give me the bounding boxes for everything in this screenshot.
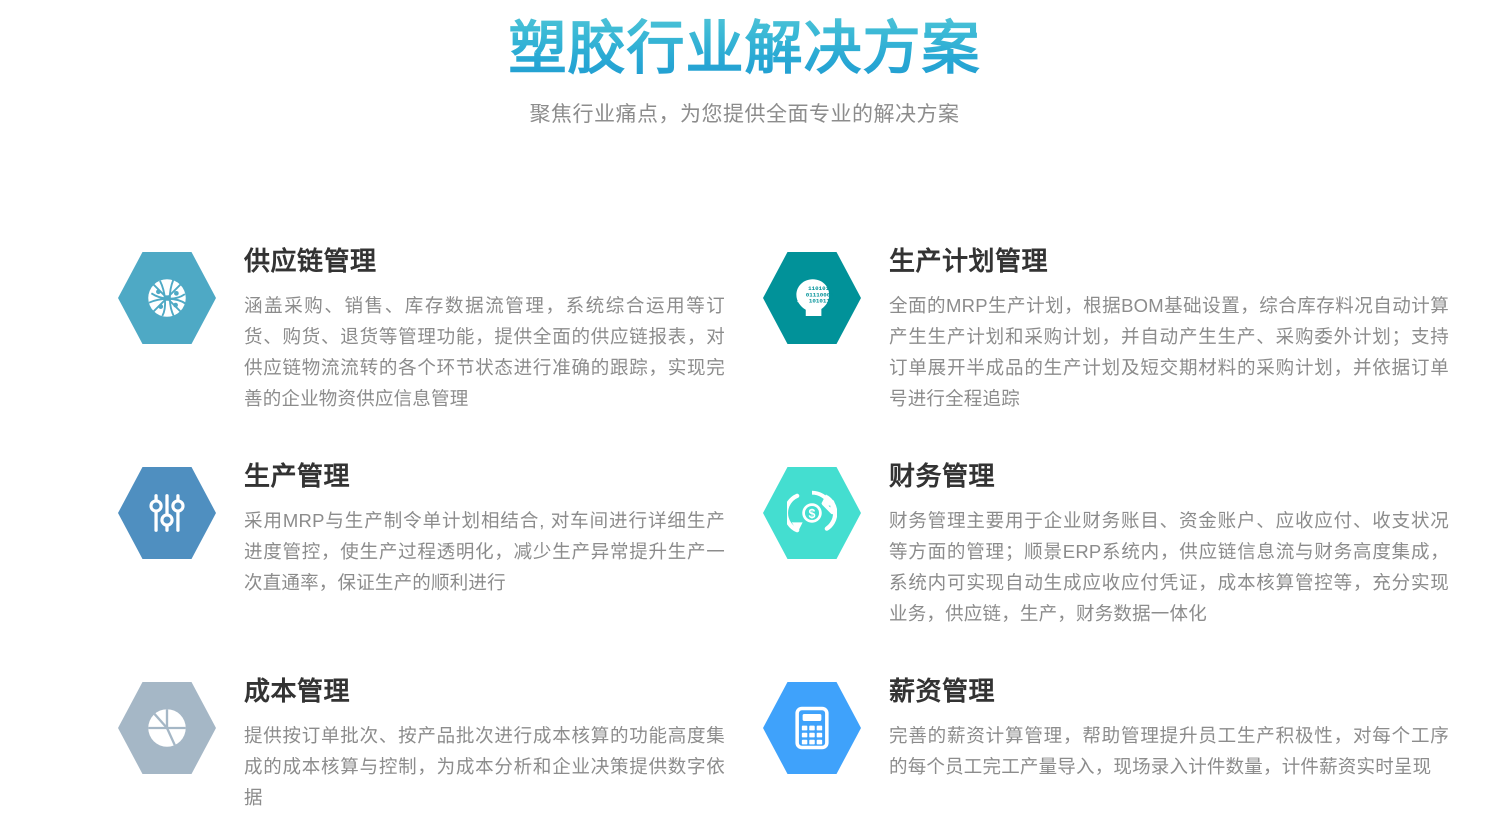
feature-title: 生产管理 (244, 459, 725, 493)
svg-text:$: $ (809, 507, 816, 521)
feature-text: 供应链管理 涵盖采购、销售、库存数据流管理，系统综合运用等订货、购货、退货等管理… (244, 240, 725, 414)
calculator-icon (787, 703, 837, 753)
feature-description: 采用MRP与生产制令单计划相结合, 对车间进行详细生产进度管控，使生产过程透明化… (244, 505, 725, 598)
feature-card-payroll[interactable]: 薪资管理 完善的薪资计算管理，帮助管理提升员工生产积极性，对每个工序的每个员工完… (745, 670, 1489, 830)
feature-icon-badge: 110101 01110001 101011 (763, 252, 861, 344)
feature-icon-badge (118, 467, 216, 559)
feature-description: 财务管理主要用于企业财务账目、资金账户、应收应付、收支状况等方面的管理；顺景ER… (889, 505, 1449, 629)
feature-icon-badge: $ (763, 467, 861, 559)
feature-description: 完善的薪资计算管理，帮助管理提升员工生产积极性，对每个工序的每个员工完工产量导入… (889, 720, 1449, 782)
feature-text: 生产管理 采用MRP与生产制令单计划相结合, 对车间进行详细生产进度管控，使生产… (244, 455, 725, 598)
feature-title: 财务管理 (889, 459, 1449, 493)
feature-title: 成本管理 (244, 674, 725, 708)
feature-description: 提供按订单批次、按产品批次进行成本核算的功能高度集成的成本核算与控制，为成本分析… (244, 720, 725, 813)
feature-description: 涵盖采购、销售、库存数据流管理，系统综合运用等订货、购货、退货等管理功能，提供全… (244, 290, 725, 414)
page-header: 塑胶行业解决方案 聚焦行业痛点，为您提供全面专业的解决方案 (0, 0, 1489, 130)
sliders-icon (142, 488, 192, 538)
feature-icon-badge (118, 682, 216, 774)
feature-icon-badge (118, 252, 216, 344)
feature-text: 财务管理 财务管理主要用于企业财务账目、资金账户、应收应付、收支状况等方面的管理… (889, 455, 1449, 629)
feature-card-cost[interactable]: 成本管理 提供按订单批次、按产品批次进行成本核算的功能高度集成的成本核算与控制，… (0, 670, 745, 830)
feature-title: 薪资管理 (889, 674, 1449, 708)
feature-card-finance[interactable]: $ 财务管理 财务管理主要用于企业财务账目、资金账户、应收应付、收支状况等方面的… (745, 455, 1489, 670)
feature-title: 供应链管理 (244, 244, 725, 278)
feature-text: 薪资管理 完善的薪资计算管理，帮助管理提升员工生产积极性，对每个工序的每个员工完… (889, 670, 1449, 782)
solution-page: 塑胶行业解决方案 聚焦行业痛点，为您提供全面专业的解决方案 (0, 0, 1489, 836)
feature-icon-badge (763, 682, 861, 774)
money-refresh-icon: $ (787, 488, 837, 538)
feature-card-production-plan[interactable]: 110101 01110001 101011 生产计划管理 全面的MRP生产计划… (745, 240, 1489, 455)
feature-text: 生产计划管理 全面的MRP生产计划，根据BOM基础设置，综合库存料况自动计算产生… (889, 240, 1449, 414)
svg-text:101011: 101011 (809, 298, 831, 305)
feature-card-production[interactable]: 生产管理 采用MRP与生产制令单计划相结合, 对车间进行详细生产进度管控，使生产… (0, 455, 745, 670)
page-title: 塑胶行业解决方案 (0, 12, 1489, 86)
feature-card-supply-chain[interactable]: 供应链管理 涵盖采购、销售、库存数据流管理，系统综合运用等订货、购货、退货等管理… (0, 240, 745, 455)
feature-description: 全面的MRP生产计划，根据BOM基础设置，综合库存料况自动计算产生生产计划和采购… (889, 290, 1449, 414)
page-subtitle: 聚焦行业痛点，为您提供全面专业的解决方案 (0, 100, 1489, 130)
feature-grid: 供应链管理 涵盖采购、销售、库存数据流管理，系统综合运用等订货、购货、退货等管理… (0, 240, 1489, 830)
feature-text: 成本管理 提供按订单批次、按产品批次进行成本核算的功能高度集成的成本核算与控制，… (244, 670, 725, 813)
network-globe-icon (142, 273, 192, 323)
pie-chart-icon (142, 703, 192, 753)
feature-title: 生产计划管理 (889, 244, 1449, 278)
ai-head-binary-icon: 110101 01110001 101011 (787, 273, 837, 323)
